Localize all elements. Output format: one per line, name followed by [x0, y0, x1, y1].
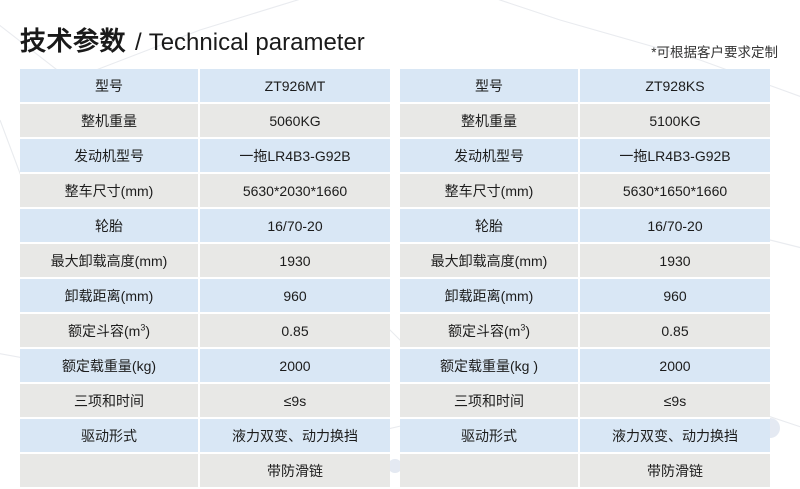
table-row: 三项和时间≤9s [400, 384, 770, 419]
spec-value-cell: 液力双变、动力换挡 [580, 419, 770, 454]
table-row: 整机重量5100KG [400, 104, 770, 139]
table-row: 三项和时间≤9s [20, 384, 390, 419]
spec-value-cell: 960 [200, 279, 390, 314]
table-row: 驱动形式液力双变、动力换挡 [20, 419, 390, 454]
spec-label-cell: 额定斗容(m3) [20, 314, 200, 349]
spec-value-cell: 液力双变、动力换挡 [200, 419, 390, 454]
spec-label-cell: 驱动形式 [400, 419, 580, 454]
spec-label-cell: 整车尺寸(mm) [20, 174, 200, 209]
spec-label-cell: 三项和时间 [20, 384, 200, 419]
spec-value-cell: 带防滑链 [200, 454, 390, 489]
spec-value-cell: 1930 [200, 244, 390, 279]
table-row: 带防滑链 [20, 454, 390, 489]
spec-value-cell: 一拖LR4B3-G92B [200, 139, 390, 174]
spec-label-tail: ) [525, 323, 530, 339]
table-row: 整车尺寸(mm)5630*1650*1660 [400, 174, 770, 209]
table-row: 额定载重量(kg)2000 [20, 349, 390, 384]
table-row: 整机重量5060KG [20, 104, 390, 139]
spec-table-right: 型号ZT928KS整机重量5100KG发动机型号一拖LR4B3-G92B整车尺寸… [400, 69, 770, 489]
spec-table-right-body: 型号ZT928KS整机重量5100KG发动机型号一拖LR4B3-G92B整车尺寸… [400, 69, 770, 489]
spec-value-cell: ZT926MT [200, 69, 390, 104]
spec-label-cell [400, 454, 580, 489]
spec-tables-container: 型号ZT926MT整机重量5060KG发动机型号一拖LR4B3-G92B整车尺寸… [0, 69, 800, 489]
spec-label-cell: 轮胎 [400, 209, 580, 244]
table-row: 发动机型号一拖LR4B3-G92B [20, 139, 390, 174]
spec-value-cell: 2000 [200, 349, 390, 384]
spec-value-cell: 0.85 [200, 314, 390, 349]
spec-label-cell: 整车尺寸(mm) [400, 174, 580, 209]
spec-value-cell: 2000 [580, 349, 770, 384]
spec-value-cell: 16/70-20 [580, 209, 770, 244]
spec-value-cell: 带防滑链 [580, 454, 770, 489]
spec-label-cell: 最大卸载高度(mm) [20, 244, 200, 279]
page-header: 技术参数 / Technical parameter *可根据客户要求定制 [0, 0, 800, 69]
spec-table-left: 型号ZT926MT整机重量5060KG发动机型号一拖LR4B3-G92B整车尺寸… [20, 69, 390, 489]
table-row: 轮胎16/70-20 [20, 209, 390, 244]
spec-value-cell: ZT928KS [580, 69, 770, 104]
spec-value-cell: 5630*1650*1660 [580, 174, 770, 209]
spec-label-base: 额定斗容(m [68, 323, 140, 339]
spec-label-cell [20, 454, 200, 489]
spec-value-cell: 960 [580, 279, 770, 314]
spec-value-cell: ≤9s [580, 384, 770, 419]
spec-label-base: 额定斗容(m [448, 323, 520, 339]
page-title-english: Technical parameter [149, 29, 365, 57]
table-row: 最大卸载高度(mm)1930 [400, 244, 770, 279]
spec-label-cell: 型号 [400, 69, 580, 104]
spec-value-cell: 16/70-20 [200, 209, 390, 244]
page-title-chinese: 技术参数 [20, 21, 126, 58]
spec-label-cell: 整机重量 [20, 104, 200, 139]
table-row: 卸载距离(mm)960 [20, 279, 390, 314]
spec-value-cell: 0.85 [580, 314, 770, 349]
page-title-separator: / [135, 29, 142, 57]
spec-label-cell: 最大卸载高度(mm) [400, 244, 580, 279]
spec-label-tail: ) [145, 323, 150, 339]
table-row: 整车尺寸(mm)5630*2030*1660 [20, 174, 390, 209]
spec-value-cell: ≤9s [200, 384, 390, 419]
spec-label-cell: 驱动形式 [20, 419, 200, 454]
spec-label-cell: 轮胎 [20, 209, 200, 244]
table-row: 驱动形式液力双变、动力换挡 [400, 419, 770, 454]
spec-label-cell: 额定斗容(m3) [400, 314, 580, 349]
spec-table-left-body: 型号ZT926MT整机重量5060KG发动机型号一拖LR4B3-G92B整车尺寸… [20, 69, 390, 489]
spec-label-cell: 卸载距离(mm) [20, 279, 200, 314]
spec-value-cell: 5060KG [200, 104, 390, 139]
table-row: 轮胎16/70-20 [400, 209, 770, 244]
spec-label-cell: 额定载重量(kg ) [400, 349, 580, 384]
table-row: 额定载重量(kg )2000 [400, 349, 770, 384]
spec-value-cell: 5100KG [580, 104, 770, 139]
spec-value-cell: 1930 [580, 244, 770, 279]
spec-value-cell: 一拖LR4B3-G92B [580, 139, 770, 174]
spec-label-cell: 发动机型号 [20, 139, 200, 174]
table-row: 带防滑链 [400, 454, 770, 489]
table-row: 额定斗容(m3)0.85 [20, 314, 390, 349]
table-row: 卸载距离(mm)960 [400, 279, 770, 314]
customization-note: *可根据客户要求定制 [651, 41, 778, 61]
spec-label-cell: 三项和时间 [400, 384, 580, 419]
table-row: 最大卸载高度(mm)1930 [20, 244, 390, 279]
table-row: 发动机型号一拖LR4B3-G92B [400, 139, 770, 174]
table-row: 型号ZT928KS [400, 69, 770, 104]
spec-label-cell: 卸载距离(mm) [400, 279, 580, 314]
page-title: 技术参数 / Technical parameter [20, 21, 365, 58]
spec-label-cell: 发动机型号 [400, 139, 580, 174]
spec-label-cell: 型号 [20, 69, 200, 104]
spec-label-cell: 整机重量 [400, 104, 580, 139]
table-row: 型号ZT926MT [20, 69, 390, 104]
table-row: 额定斗容(m3)0.85 [400, 314, 770, 349]
spec-value-cell: 5630*2030*1660 [200, 174, 390, 209]
spec-label-cell: 额定载重量(kg) [20, 349, 200, 384]
